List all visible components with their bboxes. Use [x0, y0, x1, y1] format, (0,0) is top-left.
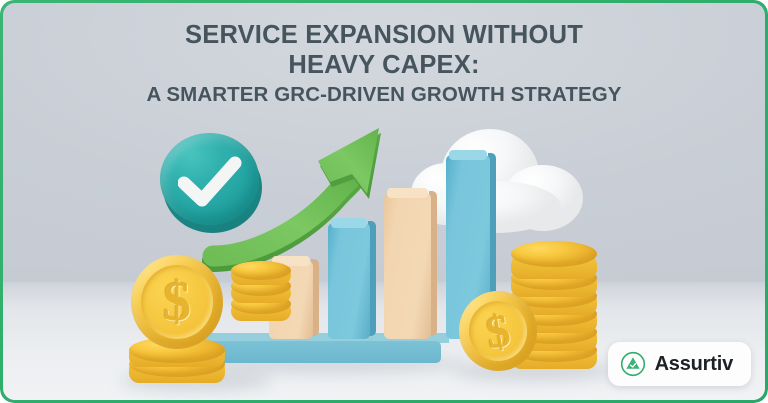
coin-stack-small — [231, 261, 291, 323]
coin-group-right: $ — [451, 241, 611, 371]
bar-front-face — [328, 223, 370, 339]
banner-title: SERVICE EXPANSION WITHOUT HEAVY CAPEX: A… — [3, 20, 765, 109]
coin-group-left: $ — [121, 251, 281, 386]
brand-name: Assurtiv — [655, 353, 733, 376]
coin-leaning-front: $ — [453, 285, 544, 377]
assurtiv-mountain-icon — [620, 351, 646, 377]
coin-large-front: $ — [131, 255, 223, 349]
bar-top-face — [331, 218, 367, 228]
coin-dollar-symbol: $ — [141, 265, 213, 339]
coin-body: $ — [453, 285, 544, 377]
promo-banner: SERVICE EXPANSION WITHOUT HEAVY CAPEX: A… — [0, 0, 768, 403]
cloud-icon — [411, 129, 586, 234]
coin-body: $ — [131, 255, 223, 349]
coin-rim: $ — [141, 265, 213, 339]
banner-scene: SERVICE EXPANSION WITHOUT HEAVY CAPEX: A… — [3, 3, 765, 400]
chart-bar-2 — [328, 223, 370, 339]
coin-face-top — [231, 261, 291, 280]
coin-dollar-symbol: $ — [464, 296, 532, 365]
coin-face-top — [511, 241, 597, 267]
title-line-3: A SMARTER GRC-DRIVEN GROWTH STRATEGY — [3, 81, 765, 109]
brand-logo-badge[interactable]: Assurtiv — [608, 342, 751, 386]
chart-bar-3 — [384, 193, 431, 339]
title-line-1: SERVICE EXPANSION WITHOUT — [3, 20, 765, 50]
title-line-2: HEAVY CAPEX: — [3, 50, 765, 80]
bar-top-face — [387, 188, 428, 198]
coin-rim: $ — [464, 296, 532, 365]
check-icon — [178, 155, 242, 212]
bar-front-face — [384, 193, 431, 339]
verified-check-badge — [160, 133, 264, 233]
bar-top-face — [449, 150, 487, 160]
